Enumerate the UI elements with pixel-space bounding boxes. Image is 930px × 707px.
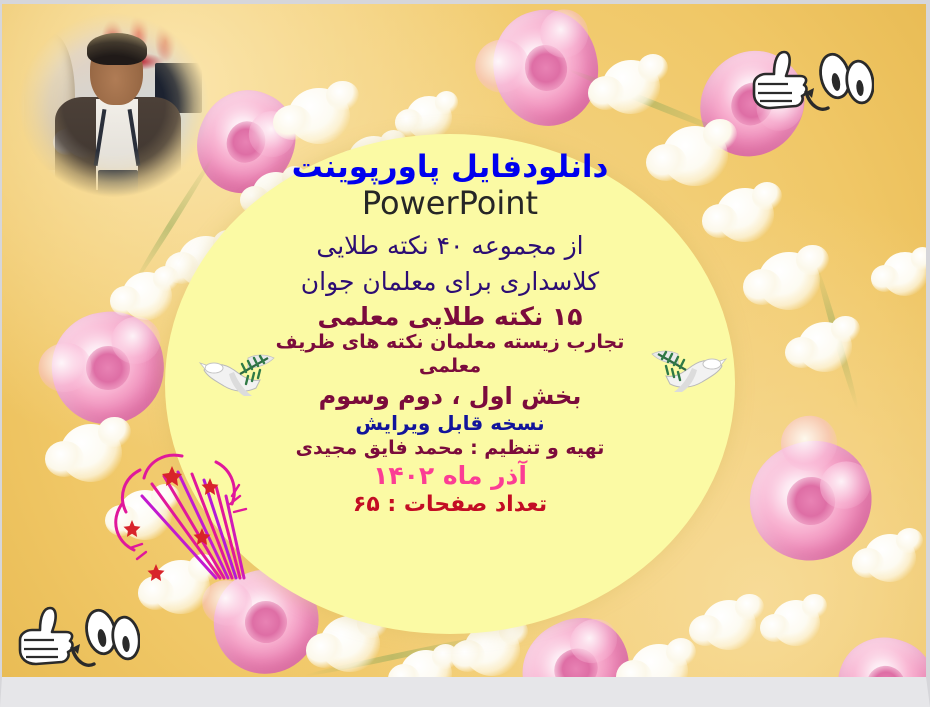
gypsophila-cluster: [118, 490, 172, 540]
poster-parts: بخش اول ، دوم وسوم: [165, 383, 735, 410]
stem-bottom: [304, 631, 501, 678]
gypsophila-cluster: [630, 644, 688, 698]
poster-date: آذر ماه ۱۴۰۲: [165, 462, 735, 490]
rose-right-middle: [735, 426, 887, 576]
gypsophila-cluster: [758, 252, 820, 310]
poster-heading: ۱۵ نکته طلایی معلمی: [165, 303, 735, 331]
poster-text-stack: دانلودفایل پاورپوینت PowerPoint از مجموع…: [165, 134, 735, 634]
poster-title-fa: دانلودفایل پاورپوینت: [165, 150, 735, 185]
id-badge: [98, 170, 137, 195]
stem-top: [567, 67, 737, 141]
gypsophila-cluster: [798, 322, 852, 372]
rose-bottom-far-right: [826, 625, 930, 707]
gypsophila-cluster: [772, 600, 820, 646]
poster-author: تهیه و تنظیم : محمد فایق مجیدی: [165, 438, 735, 459]
poster-subtitle-2: کلاسداری برای معلمان جوان: [165, 264, 735, 300]
poster-title-en: PowerPoint: [165, 186, 735, 222]
poster-editable-note: نسخه قابل ویرایش: [165, 412, 735, 434]
poster-description: تجارب زیسته معلمان نکته های ظریف معلمی: [270, 331, 630, 379]
stem-right: [813, 264, 861, 410]
gypsophila-cluster: [400, 650, 452, 698]
poster-subtitle-1: از مجموعه ۴۰ نکته طلایی: [165, 228, 735, 264]
gypsophila-cluster: [602, 60, 660, 114]
rose-left-middle: [45, 305, 171, 431]
gypsophila-cluster: [60, 424, 122, 482]
rose-top-center: [482, 0, 611, 137]
poster-canvas: دانلودفایل پاورپوینت PowerPoint از مجموع…: [0, 0, 930, 707]
poster-page-count: تعداد صفحات : ۶۵: [165, 493, 735, 518]
gypsophila-cluster: [882, 252, 928, 296]
gypsophila-cluster: [864, 534, 916, 582]
